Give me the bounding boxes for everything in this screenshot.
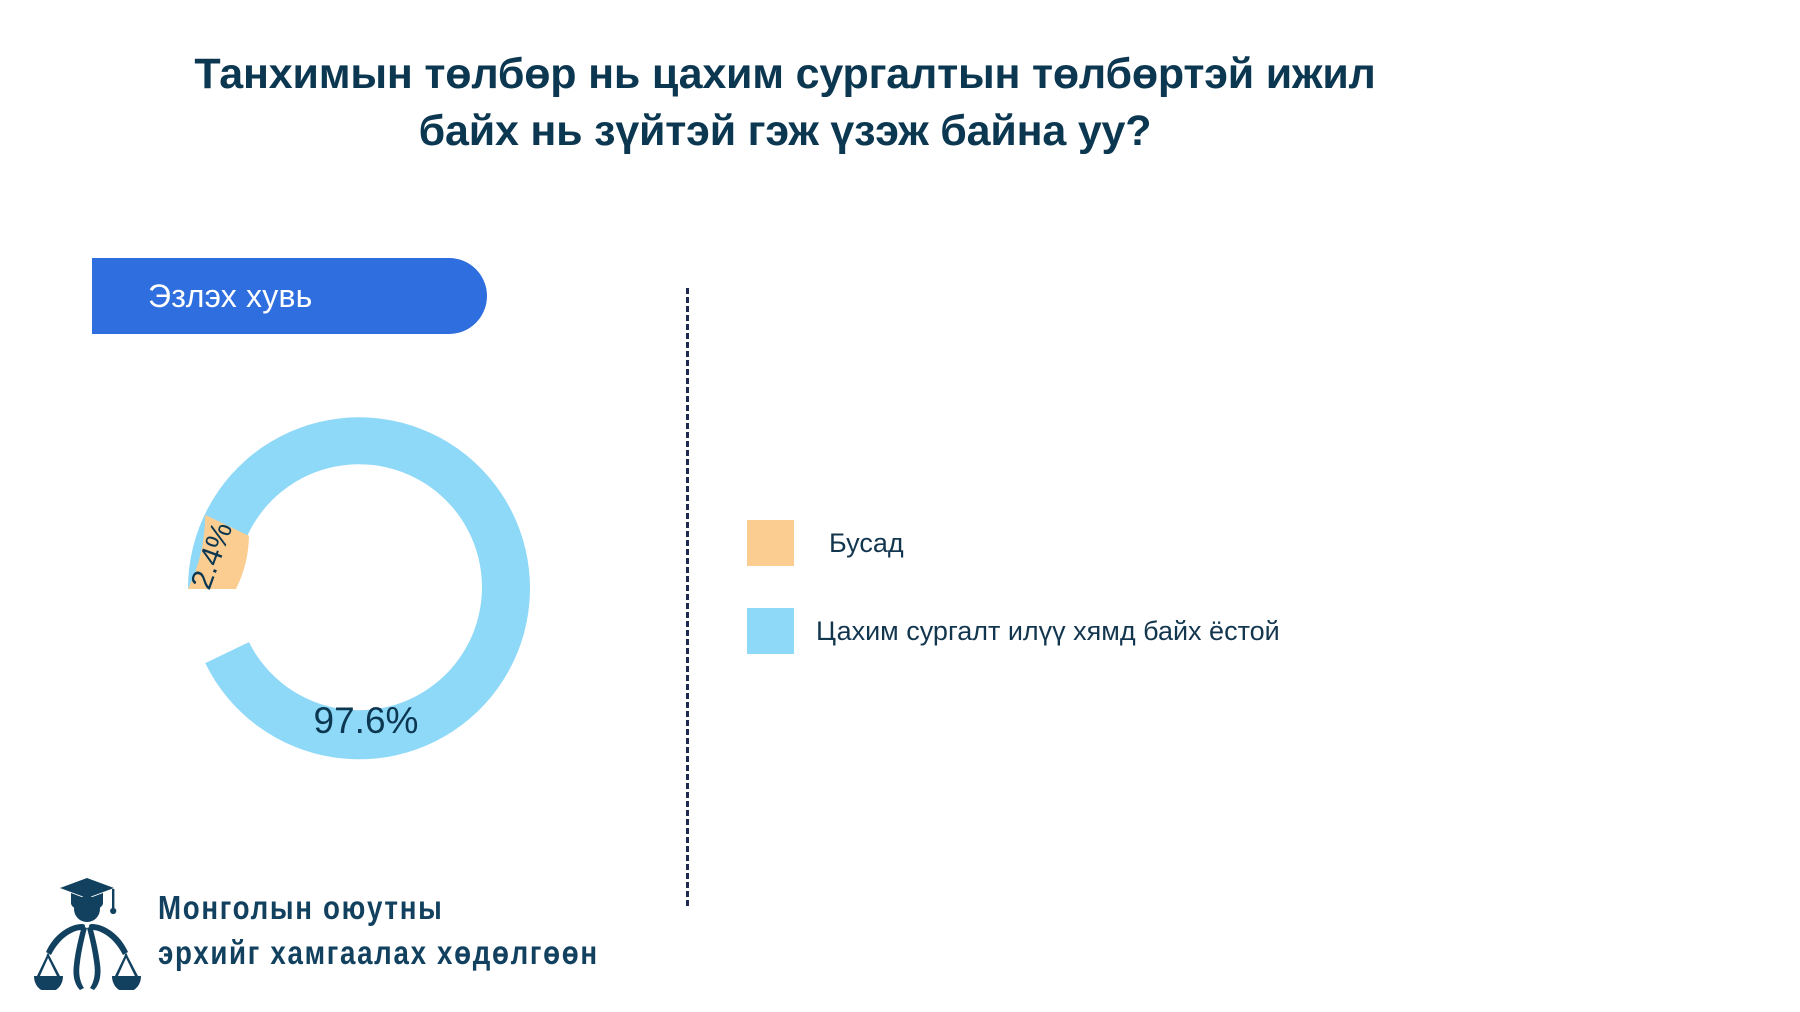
organization-logo-text: Монголын оюутны эрхийг хамгаалах хөдөлгө… (158, 886, 599, 976)
organization-logo: Монголын оюутны эрхийг хамгаалах хөдөлгө… (32, 872, 683, 990)
donut-label-major: 97.6% (314, 700, 419, 741)
donut-chart-svg: 97.6% 2.4% (188, 418, 530, 760)
legend-label-busad: Бусад (829, 528, 904, 559)
page-title-line-1: Танхимын төлбөр нь цахим сургалтын төлбө… (110, 46, 1460, 103)
legend-swatch-orange (747, 520, 794, 566)
organization-logo-line-2: эрхийг хамгаалах хөдөлгөөн (158, 931, 599, 976)
chart-legend: Бусад Цахим сургалт илүү хямд байх ёстой (747, 520, 1280, 654)
legend-swatch-blue (747, 608, 794, 654)
share-percentage-badge-label: Эзлэх хувь (148, 278, 313, 315)
legend-label-online-cheaper: Цахим сургалт илүү хямд байх ёстой (816, 616, 1280, 647)
donut-chart: 97.6% 2.4% (188, 418, 530, 760)
page-title-line-2: байх нь зүйтэй гэж үзэж байна уу? (110, 103, 1460, 160)
page-title: Танхимын төлбөр нь цахим сургалтын төлбө… (110, 46, 1460, 160)
legend-item-online-cheaper[interactable]: Цахим сургалт илүү хямд байх ёстой (747, 608, 1280, 654)
legend-item-busad[interactable]: Бусад (747, 520, 1280, 566)
scales-of-justice-graduation-cap-icon (32, 872, 142, 990)
share-percentage-badge: Эзлэх хувь (92, 258, 487, 334)
organization-logo-line-1: Монголын оюутны (158, 886, 599, 931)
vertical-dashed-divider (686, 288, 689, 906)
slide-canvas: Танхимын төлбөр нь цахим сургалтын төлбө… (0, 0, 1800, 1012)
